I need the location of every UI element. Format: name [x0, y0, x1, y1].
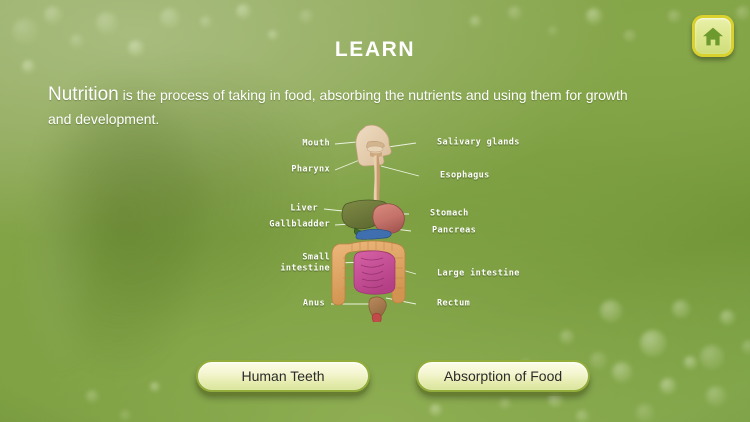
diagram-label-large-intestine: Large intestine [437, 269, 520, 280]
organ-anus [372, 313, 381, 322]
intro-lead-word: Nutrition [48, 84, 119, 105]
digestive-system-diagram: MouthPharynxLiverGallbladderSmall intest… [0, 122, 750, 322]
diagram-label-salivary-glands: Salivary glands [437, 138, 520, 149]
diagram-label-pancreas: Pancreas [432, 226, 476, 237]
diagram-label-liver: Liver [290, 204, 318, 215]
organ-pancreas [356, 229, 391, 239]
diagram-label-rectum: Rectum [437, 299, 470, 310]
absorption-of-food-button[interactable]: Absorption of Food [416, 360, 590, 392]
diagram-label-mouth: Mouth [302, 139, 330, 150]
diagram-label-gallbladder: Gallbladder [269, 220, 330, 231]
human-teeth-button[interactable]: Human Teeth [196, 360, 370, 392]
page-title: LEARN [0, 38, 750, 62]
diagram-label-anus: Anus [303, 299, 325, 310]
human-teeth-button-label: Human Teeth [241, 368, 324, 384]
diagram-label-pharynx: Pharynx [291, 165, 330, 176]
app-screen: LEARN Nutrition is the process of taking… [0, 0, 750, 422]
absorption-of-food-button-label: Absorption of Food [444, 368, 562, 384]
organ-small-intestine [354, 251, 395, 294]
diagram-label-esophagus: Esophagus [440, 171, 490, 182]
diagram-label-stomach: Stomach [430, 209, 469, 220]
digestive-system-illustration [0, 122, 750, 322]
diagram-label-small-intestine: Small intestine [280, 252, 330, 273]
